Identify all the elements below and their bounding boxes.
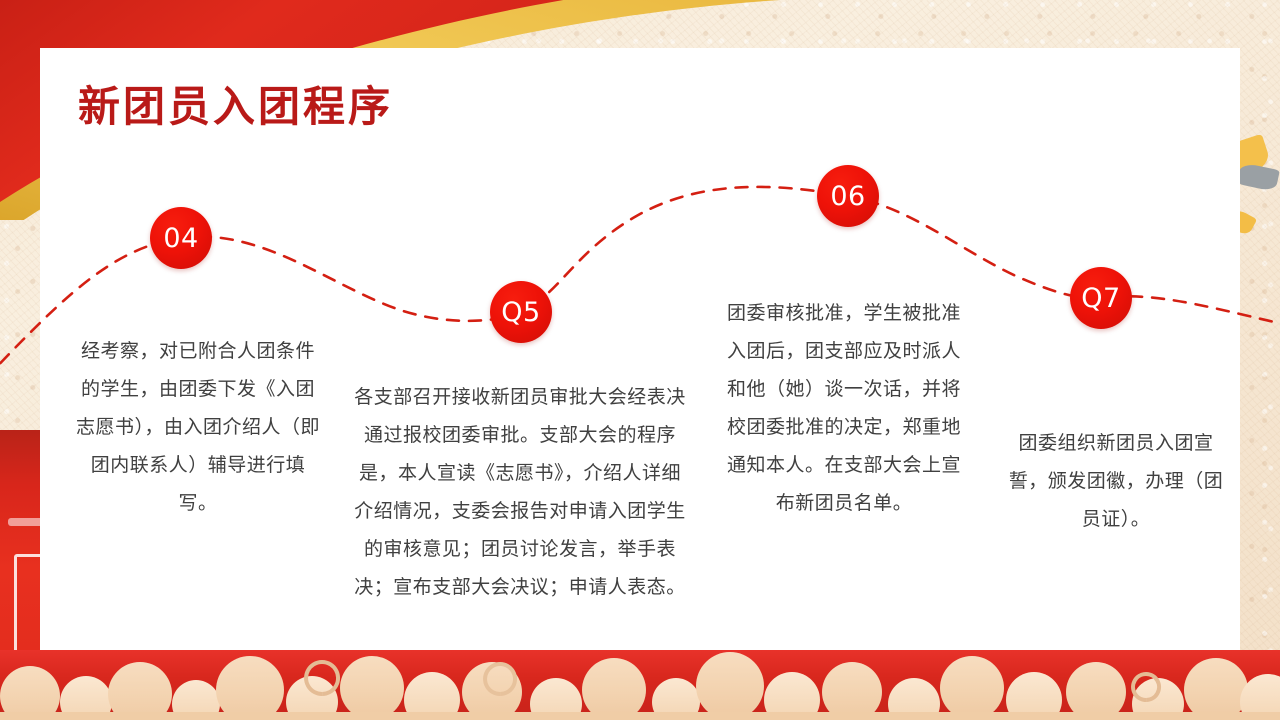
bottom-cloud-decoration <box>0 650 1280 720</box>
slide-root: 新团员入团程序 04 Q5 06 Q7 经考察，对已附合人团条件的学生，由团委下… <box>0 0 1280 720</box>
step-badge-06-label: 06 <box>830 181 865 212</box>
step-badge-04-label: 04 <box>163 223 198 254</box>
page-title: 新团员入团程序 <box>78 73 393 134</box>
step-description-06: 团委审核批准，学生被批准入团后，团支部应及时派人和他（她）谈一次话，并将校团委批… <box>722 294 966 522</box>
step-badge-06[interactable]: 06 <box>817 165 879 227</box>
step-badge-04[interactable]: 04 <box>150 207 212 269</box>
step-description-05: 各支部召开接收新团员审批大会经表决通过报校团委审批。支部大会的程序是，本人宣读《… <box>352 378 688 606</box>
step-badge-07[interactable]: Q7 <box>1070 267 1132 329</box>
step-badge-07-label: Q7 <box>1081 283 1120 314</box>
step-description-04: 经考察，对已附合人团条件的学生，由团委下发《入团志愿书），由入团介绍人（即团内联… <box>72 332 324 522</box>
step-description-07: 团委组织新团员入团宣誓，颁发团徽，办理（团员证）。 <box>1008 424 1224 538</box>
step-badge-05[interactable]: Q5 <box>490 281 552 343</box>
cloud-shapes <box>0 650 1280 720</box>
step-badge-05-label: Q5 <box>501 297 540 328</box>
